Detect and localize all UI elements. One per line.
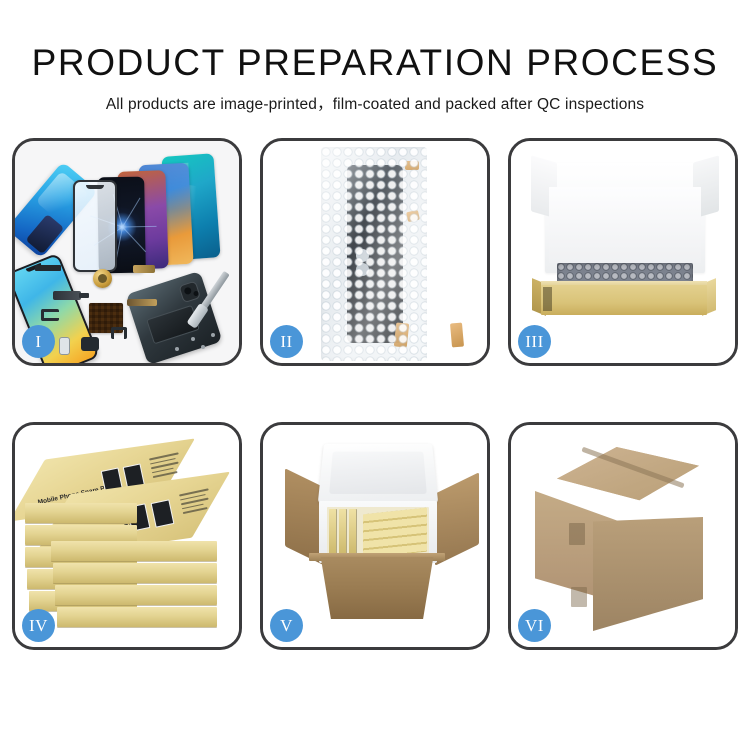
flex-cable-graphic [53, 291, 81, 300]
step-card-3[interactable]: III [508, 138, 738, 366]
screw-graphic [175, 347, 179, 351]
step-badge-3: III [518, 325, 551, 358]
box-edge [25, 503, 137, 523]
product-preparation-page: PRODUCT PREPARATION PROCESS All products… [0, 0, 750, 750]
bubble-wrap-bag-graphic [321, 147, 427, 361]
bracket-part-graphic [41, 309, 59, 321]
page-title: PRODUCT PREPARATION PROCESS [0, 42, 750, 84]
step-badge-4: IV [22, 609, 55, 642]
step-badge-2: II [270, 325, 303, 358]
screw-graphic [201, 345, 205, 349]
carton-body [313, 557, 441, 619]
step-card-2[interactable]: II [260, 138, 490, 366]
foam-sheet-graphic [549, 187, 701, 263]
step-badge-6: VI [518, 609, 551, 642]
step-card-1[interactable]: I [12, 138, 242, 366]
box-edge [51, 541, 217, 561]
step-badge-5: V [270, 609, 303, 642]
screw-graphic [191, 337, 195, 341]
carton-tab [571, 587, 587, 607]
box-edge [53, 563, 217, 583]
sealed-carton-graphic [535, 447, 711, 617]
speaker-part-graphic [81, 337, 99, 351]
tape-graphic [450, 323, 464, 348]
camera-module-graphic [59, 337, 70, 355]
foam-lid-graphic [318, 444, 438, 504]
bracket-part-graphic [111, 327, 127, 339]
screw-graphic [211, 333, 215, 337]
box-stack-graphic: Mobile Phone Spare Parts Mobile Phone Sp… [21, 441, 235, 637]
box-edge [55, 585, 217, 605]
step-card-6[interactable]: VI [508, 422, 738, 650]
carton-right-face [593, 517, 703, 631]
step-card-4[interactable]: Mobile Phone Spare Parts Mobile Phone Sp… [12, 422, 242, 650]
coil-part-graphic [93, 269, 112, 288]
screen-protector-graphic [73, 180, 117, 272]
step-card-5[interactable]: V [260, 422, 490, 650]
plastic-sheen [321, 147, 427, 361]
carton-flap-right [435, 472, 479, 565]
packed-boxes-graphic [327, 507, 429, 557]
box-tab-graphic [543, 287, 552, 311]
flex-cable-graphic [127, 299, 157, 306]
page-subtitle: All products are image-printed，film-coat… [0, 94, 750, 116]
flex-cable-graphic [133, 265, 155, 273]
step-badge-1: I [22, 325, 55, 358]
box-edge [57, 607, 217, 627]
carton-tab [569, 523, 585, 545]
process-steps-grid: I II [12, 138, 738, 678]
flex-cable-graphic [35, 265, 61, 271]
kraft-box-front [541, 285, 707, 315]
page-header: PRODUCT PREPARATION PROCESS All products… [0, 0, 750, 116]
phone-chassis-graphic [125, 271, 222, 363]
